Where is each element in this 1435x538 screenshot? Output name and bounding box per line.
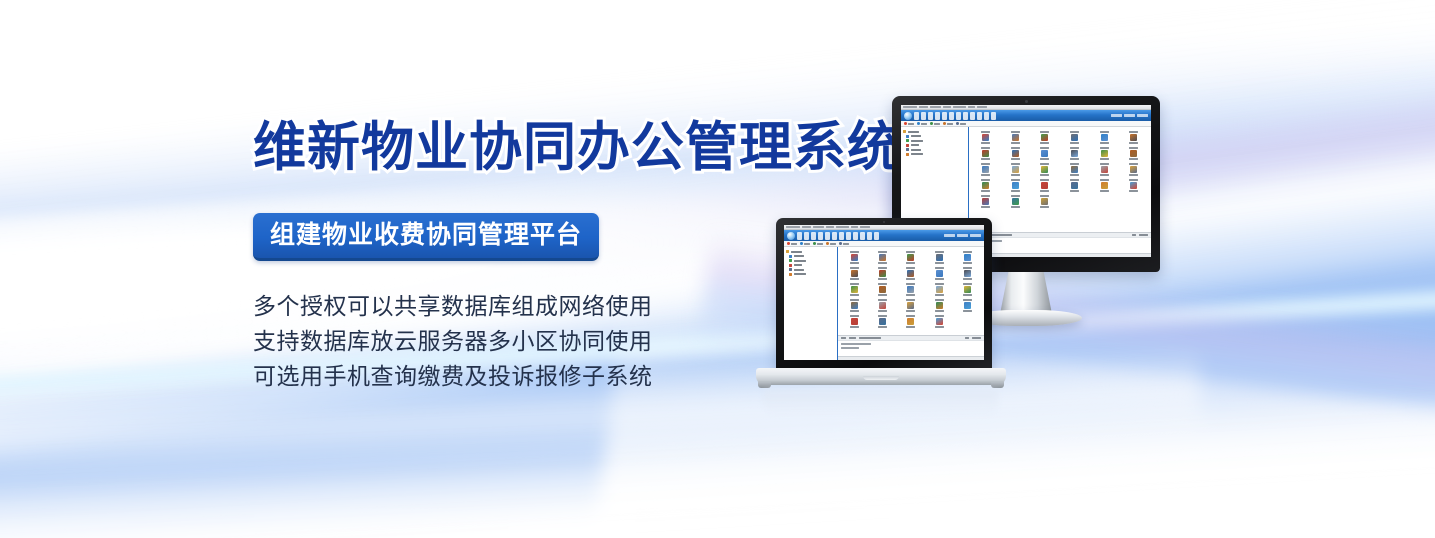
tree-item-label — [791, 251, 802, 253]
module-icon-item[interactable] — [1001, 131, 1030, 144]
module-icon — [964, 254, 971, 261]
module-icon — [879, 286, 886, 293]
module-icon — [1130, 150, 1137, 157]
toolbar-button[interactable] — [860, 232, 866, 240]
module-icon-caption — [1011, 190, 1020, 192]
tree-item[interactable] — [903, 148, 966, 151]
module-icon — [1071, 150, 1078, 157]
module-icon — [1041, 198, 1048, 205]
toolbar-button[interactable] — [928, 112, 934, 120]
module-icon-item[interactable] — [1001, 179, 1030, 192]
module-icon-item[interactable] — [1060, 131, 1089, 144]
menu-item[interactable] — [813, 226, 824, 228]
module-icon-item[interactable] — [972, 195, 1001, 208]
monitor-camera-icon — [1025, 100, 1028, 103]
module-icon-caption-top — [1070, 131, 1079, 133]
laptop-screen — [784, 225, 984, 360]
laptop — [756, 218, 1006, 403]
folder-icon — [906, 144, 909, 147]
menu-item[interactable] — [943, 106, 951, 108]
module-icon-item[interactable] — [926, 315, 953, 328]
toolbar-action-button[interactable] — [944, 234, 955, 238]
module-icon-caption — [850, 310, 859, 312]
module-icon-item[interactable] — [1119, 131, 1148, 144]
tree-item[interactable] — [903, 153, 966, 156]
module-icon-item[interactable] — [1001, 147, 1030, 160]
app-logo-icon — [787, 232, 795, 240]
module-icon — [907, 254, 914, 261]
module-icon — [936, 318, 943, 325]
module-icon-item[interactable] — [1031, 163, 1060, 176]
module-icon-caption — [981, 174, 990, 176]
sub-toolbar-icon — [813, 242, 816, 245]
module-icon-caption-top — [878, 267, 887, 269]
module-icon-caption-top — [850, 267, 859, 269]
module-icon-caption-top — [850, 315, 859, 317]
module-icon-item[interactable] — [954, 251, 981, 264]
app-logo-icon — [904, 112, 912, 120]
menu-item[interactable] — [860, 226, 870, 228]
sub-toolbar-button[interactable] — [787, 242, 797, 245]
sub-toolbar-label — [791, 243, 797, 245]
menu-item[interactable] — [953, 106, 966, 108]
list-column-header — [859, 337, 881, 339]
tree-item-label — [911, 135, 921, 137]
sub-toolbar-button[interactable] — [956, 122, 966, 125]
sub-toolbar-button[interactable] — [904, 122, 914, 125]
module-icon-item[interactable] — [841, 299, 868, 312]
module-icon-item[interactable] — [869, 267, 896, 280]
module-icon-caption — [981, 190, 990, 192]
module-icon-item[interactable] — [926, 283, 953, 296]
module-icon-caption-top — [1129, 131, 1138, 133]
laptop-trackpad-notch — [863, 376, 899, 380]
module-icon — [879, 318, 886, 325]
module-icon-caption — [981, 158, 990, 160]
module-icon — [964, 270, 971, 277]
module-icon — [1130, 182, 1137, 189]
menu-item[interactable] — [977, 106, 987, 108]
module-icon-caption-top — [935, 299, 944, 301]
laptop-foot-right — [991, 382, 1004, 388]
module-icon-item[interactable] — [897, 283, 924, 296]
module-icon-item[interactable] — [954, 299, 981, 312]
module-icon-caption — [1100, 174, 1109, 176]
module-icon-caption-top — [850, 251, 859, 253]
module-icon — [1071, 134, 1078, 141]
module-icon-caption-top — [935, 267, 944, 269]
module-icon-caption-top — [878, 315, 887, 317]
menu-item[interactable] — [968, 106, 975, 108]
module-icon-caption-top — [935, 283, 944, 285]
sub-toolbar-label — [830, 243, 836, 245]
toolbar-action-button[interactable] — [1124, 114, 1135, 118]
module-icon-item[interactable] — [1031, 147, 1060, 160]
module-icon — [879, 302, 886, 309]
sub-toolbar-button[interactable] — [917, 122, 927, 125]
module-icon-item[interactable] — [1119, 147, 1148, 160]
tree-item[interactable] — [786, 255, 835, 258]
sub-toolbar-label — [934, 123, 940, 125]
laptop-lid — [776, 218, 992, 370]
module-icon — [1101, 182, 1108, 189]
list-column-header — [965, 337, 969, 339]
module-icon-caption — [878, 326, 887, 328]
module-icon-item[interactable] — [926, 251, 953, 264]
laptop-camera-icon — [883, 221, 886, 224]
module-icon — [1012, 198, 1019, 205]
app-body — [784, 247, 984, 360]
module-icon — [936, 270, 943, 277]
list-column-header — [972, 337, 981, 339]
module-icon-caption — [981, 142, 990, 144]
navigation-tree-panel[interactable] — [784, 247, 838, 360]
module-icon-caption — [1129, 174, 1138, 176]
toolbar-button[interactable] — [874, 232, 880, 240]
module-icon-caption — [1011, 142, 1020, 144]
module-icon — [1130, 134, 1137, 141]
menu-item[interactable] — [802, 226, 811, 228]
module-icon-caption — [1070, 158, 1079, 160]
module-icon — [1012, 182, 1019, 189]
module-icon-caption-top — [1100, 163, 1109, 165]
module-icon — [1012, 150, 1019, 157]
folder-icon — [786, 250, 789, 253]
toolbar-button[interactable] — [956, 112, 962, 120]
tree-item-label — [794, 260, 806, 262]
sub-toolbar-label — [947, 123, 953, 125]
toolbar-button[interactable] — [984, 112, 990, 120]
toolbar-button[interactable] — [846, 232, 852, 240]
module-icon — [1012, 134, 1019, 141]
sub-toolbar-icon — [826, 242, 829, 245]
list-column-header — [849, 337, 856, 339]
tree-item-label — [794, 269, 804, 271]
toolbar-action-button[interactable] — [957, 234, 968, 238]
module-icon-caption-top — [906, 283, 915, 285]
module-icon-item[interactable] — [841, 251, 868, 264]
sub-toolbar-icon — [956, 122, 959, 125]
module-icon-caption — [1040, 206, 1049, 208]
toolbar-button[interactable] — [921, 112, 927, 120]
module-icon-caption-top — [1100, 131, 1109, 133]
module-icon-caption — [935, 262, 944, 264]
module-icon-caption — [906, 262, 915, 264]
module-icon-item[interactable] — [841, 267, 868, 280]
tree-item[interactable] — [786, 268, 835, 271]
tree-item-label — [794, 264, 802, 266]
tree-item-label — [911, 149, 921, 151]
module-icon — [936, 254, 943, 261]
sub-toolbar-button[interactable] — [813, 242, 823, 245]
module-icon-item[interactable] — [1031, 179, 1060, 192]
module-icon-item[interactable] — [869, 283, 896, 296]
list-column-header — [1139, 234, 1148, 236]
module-icon-caption-top — [906, 251, 915, 253]
module-icon-caption — [878, 310, 887, 312]
list-column-header — [841, 337, 846, 339]
toolbar-button[interactable] — [963, 112, 969, 120]
toolbar-action-button[interactable] — [1111, 114, 1122, 118]
module-icon-caption — [1100, 142, 1109, 144]
sub-toolbar-label — [908, 123, 914, 125]
module-icon-caption — [878, 278, 887, 280]
module-icon-item[interactable] — [1060, 179, 1089, 192]
tree-item-label — [911, 144, 919, 146]
module-icon-item[interactable] — [869, 251, 896, 264]
sub-toolbar-button[interactable] — [839, 242, 849, 245]
module-icon-caption-top — [1129, 179, 1138, 181]
module-icon-item[interactable] — [869, 299, 896, 312]
module-icon-item[interactable] — [972, 131, 1001, 144]
toolbar-button[interactable] — [935, 112, 941, 120]
module-icon-item[interactable] — [972, 179, 1001, 192]
toolbar-right-group — [1111, 114, 1148, 118]
module-icon — [879, 254, 886, 261]
module-icon-caption — [1040, 142, 1049, 144]
module-icon-caption — [935, 278, 944, 280]
laptop-foot-left — [758, 382, 771, 388]
module-icon-grid — [969, 127, 1152, 232]
sub-toolbar-icon — [930, 122, 933, 125]
module-icon — [907, 270, 914, 277]
tree-item[interactable] — [903, 135, 966, 138]
menu-item[interactable] — [919, 106, 928, 108]
folder-icon — [906, 148, 909, 151]
module-icon-caption — [1011, 158, 1020, 160]
toolbar-button[interactable] — [942, 112, 948, 120]
module-icon-caption — [850, 294, 859, 296]
tree-item[interactable] — [903, 144, 966, 147]
menu-item[interactable] — [836, 226, 849, 228]
folder-icon — [789, 273, 792, 276]
toolbar-action-button[interactable] — [1137, 114, 1148, 118]
toolbar-button[interactable] — [818, 232, 824, 240]
module-icon-item[interactable] — [972, 163, 1001, 176]
folder-icon — [906, 153, 909, 156]
module-icon-item[interactable] — [841, 283, 868, 296]
toolbar-button[interactable] — [832, 232, 838, 240]
module-icon-item[interactable] — [1001, 163, 1030, 176]
module-icon-item[interactable] — [1060, 163, 1089, 176]
module-icon — [1041, 134, 1048, 141]
menu-item[interactable] — [826, 226, 834, 228]
list-area[interactable] — [838, 340, 984, 356]
module-icon-caption-top — [1040, 179, 1049, 181]
module-icon-caption — [906, 294, 915, 296]
module-icon-item[interactable] — [1090, 131, 1119, 144]
module-icon-caption-top — [1070, 163, 1079, 165]
menu-item[interactable] — [786, 226, 800, 228]
module-icon-item[interactable] — [1031, 131, 1060, 144]
toolbar-button[interactable] — [839, 232, 845, 240]
tree-item[interactable] — [903, 130, 966, 133]
sub-toolbar-icon — [904, 122, 907, 125]
module-icon — [964, 302, 971, 309]
sub-toolbar-label — [817, 243, 823, 245]
module-icon-item[interactable] — [926, 267, 953, 280]
module-icon-item[interactable] — [1090, 163, 1119, 176]
module-icon — [982, 166, 989, 173]
module-icon-caption-top — [981, 163, 990, 165]
module-icon — [1041, 150, 1048, 157]
module-icon-caption — [1070, 174, 1079, 176]
folder-icon — [906, 135, 909, 138]
module-icon — [982, 198, 989, 205]
module-icon-item[interactable] — [841, 315, 868, 328]
module-icon-item[interactable] — [1119, 179, 1148, 192]
module-icon — [851, 286, 858, 293]
app-window-laptop — [784, 225, 984, 360]
module-icon — [1101, 150, 1108, 157]
tree-item[interactable] — [786, 259, 835, 262]
module-icon — [907, 286, 914, 293]
folder-icon — [789, 259, 792, 262]
module-icon-caption-top — [878, 299, 887, 301]
sub-toolbar-button[interactable] — [930, 122, 940, 125]
list-row[interactable] — [841, 343, 871, 345]
sub-toolbar-icon — [800, 242, 803, 245]
module-icon-grid — [838, 247, 984, 335]
module-icon-caption-top — [850, 283, 859, 285]
module-icon-caption — [963, 310, 972, 312]
module-icon-caption-top — [1070, 179, 1079, 181]
list-row[interactable] — [841, 347, 859, 349]
module-icon-caption-top — [963, 267, 972, 269]
module-icon-caption — [1070, 142, 1079, 144]
toolbar-button[interactable] — [804, 232, 810, 240]
background-wave-bottom-white — [0, 378, 1435, 538]
toolbar-button[interactable] — [853, 232, 859, 240]
module-icon — [964, 286, 971, 293]
device-mockup-group — [740, 96, 1200, 426]
sub-toolbar-button[interactable] — [800, 242, 810, 245]
module-icon-item[interactable] — [954, 267, 981, 280]
module-icon-item[interactable] — [1090, 179, 1119, 192]
module-icon-caption — [850, 262, 859, 264]
module-icon-caption-top — [981, 195, 990, 197]
module-icon — [851, 318, 858, 325]
module-icon-caption — [963, 278, 972, 280]
module-icon — [1130, 166, 1137, 173]
app-content-area — [838, 247, 984, 360]
banner-subtitle-badge: 组建物业收费协同管理平台 — [253, 213, 599, 261]
module-icon-item[interactable] — [897, 315, 924, 328]
toolbar-button[interactable] — [991, 112, 997, 120]
menu-item[interactable] — [851, 226, 858, 228]
module-icon-item[interactable] — [972, 147, 1001, 160]
module-icon — [851, 302, 858, 309]
toolbar-action-button[interactable] — [970, 234, 981, 238]
sub-toolbar-button[interactable] — [826, 242, 836, 245]
module-icon — [936, 302, 943, 309]
module-icon-caption-top — [1129, 163, 1138, 165]
tree-item-label — [908, 131, 919, 133]
module-icon-item[interactable] — [897, 299, 924, 312]
module-icon-item[interactable] — [1031, 195, 1060, 208]
module-icon-caption — [906, 310, 915, 312]
module-icon — [1041, 166, 1048, 173]
module-icon-caption-top — [850, 299, 859, 301]
status-bar — [838, 356, 984, 360]
module-icon-caption — [1100, 190, 1109, 192]
tree-item[interactable] — [903, 139, 966, 142]
module-icon — [1012, 166, 1019, 173]
tree-item[interactable] — [786, 250, 835, 253]
folder-icon — [789, 264, 792, 267]
module-icon-caption-top — [1011, 179, 1020, 181]
folder-icon — [789, 268, 792, 271]
module-icon-item[interactable] — [1001, 195, 1030, 208]
module-icon-caption — [850, 278, 859, 280]
module-icon — [1071, 166, 1078, 173]
sub-toolbar-icon — [787, 242, 790, 245]
module-icon-caption-top — [1011, 147, 1020, 149]
module-icon — [982, 134, 989, 141]
sub-toolbar-label — [804, 243, 810, 245]
module-icon-item[interactable] — [1060, 147, 1089, 160]
module-icon-item[interactable] — [1090, 147, 1119, 160]
laptop-reflection — [764, 390, 998, 416]
module-icon-caption — [981, 206, 990, 208]
module-icon-caption-top — [1040, 147, 1049, 149]
module-icon-item[interactable] — [926, 299, 953, 312]
promo-banner: 维新物业协同办公管理系统 组建物业收费协同管理平台 多个授权可以共享数据库组成网… — [0, 0, 1435, 538]
module-icon-item[interactable] — [954, 283, 981, 296]
toolbar-button[interactable] — [825, 232, 831, 240]
module-icon-caption-top — [1011, 131, 1020, 133]
module-icon — [982, 150, 989, 157]
module-icon-caption-top — [963, 283, 972, 285]
module-icon — [851, 254, 858, 261]
module-icon-caption — [1011, 174, 1020, 176]
module-icon-caption — [935, 326, 944, 328]
tree-item[interactable] — [786, 273, 835, 276]
sub-toolbar-label — [843, 243, 849, 245]
module-icon-item[interactable] — [897, 251, 924, 264]
toolbar-button[interactable] — [914, 112, 920, 120]
module-icon-caption-top — [1100, 179, 1109, 181]
toolbar-button[interactable] — [949, 112, 955, 120]
menu-item[interactable] — [903, 106, 917, 108]
module-icon — [1041, 182, 1048, 189]
toolbar-button[interactable] — [867, 232, 873, 240]
module-icon-caption — [1011, 206, 1020, 208]
toolbar-button[interactable] — [977, 112, 983, 120]
menu-item[interactable] — [930, 106, 941, 108]
module-icon-caption — [1129, 190, 1138, 192]
module-icon — [907, 302, 914, 309]
module-icon-caption-top — [963, 299, 972, 301]
sub-toolbar-icon — [943, 122, 946, 125]
tree-item-label — [911, 140, 923, 142]
module-icon-item[interactable] — [1119, 163, 1148, 176]
toolbar-button[interactable] — [797, 232, 803, 240]
module-icon-caption-top — [878, 251, 887, 253]
toolbar-button[interactable] — [811, 232, 817, 240]
module-icon-item[interactable] — [869, 315, 896, 328]
sub-toolbar-button[interactable] — [943, 122, 953, 125]
sub-toolbar-label — [960, 123, 966, 125]
module-icon-caption — [1129, 142, 1138, 144]
module-icon-caption-top — [1011, 195, 1020, 197]
toolbar-right-group — [944, 234, 981, 238]
module-icon-caption — [935, 310, 944, 312]
module-icon — [1071, 182, 1078, 189]
toolbar-button[interactable] — [970, 112, 976, 120]
module-icon-item[interactable] — [897, 267, 924, 280]
tree-item[interactable] — [786, 264, 835, 267]
